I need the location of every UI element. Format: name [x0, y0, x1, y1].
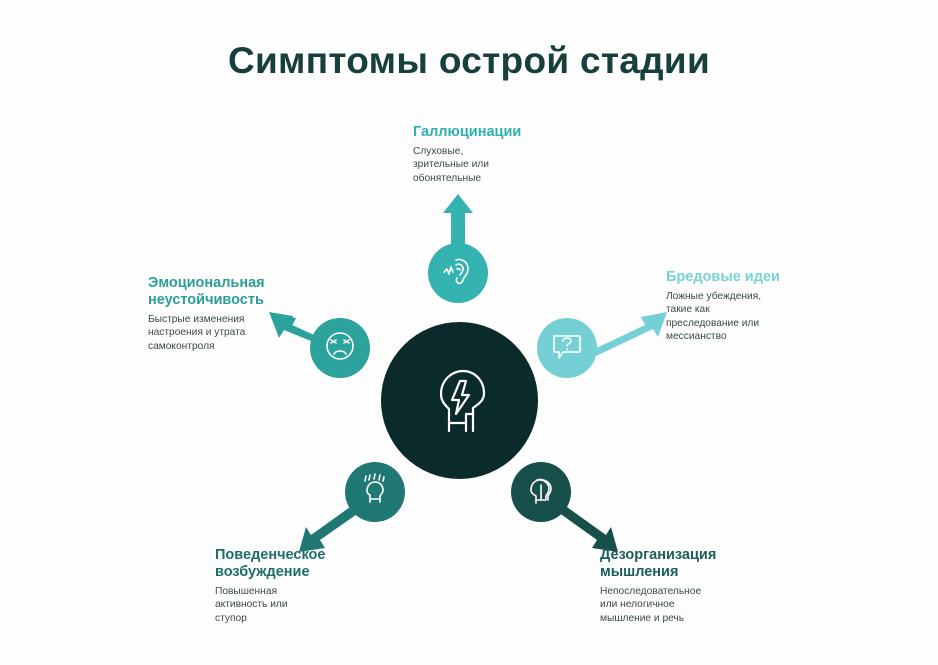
callout-body: Слуховые, зрительные или обонятельные: [413, 145, 603, 185]
ear-sound-icon: [441, 254, 475, 293]
callout-behavioral-agitation: Поведенческое возбуждение Повышенная акт…: [215, 547, 390, 625]
callout-delusions: Бредовые идеи Ложные убеждения, такие ка…: [666, 269, 846, 344]
node-disorganized-thinking[interactable]: [511, 462, 571, 522]
node-delusions[interactable]: [537, 318, 597, 378]
arrow-delusions: [588, 312, 667, 356]
speech-bubble-question-icon: [550, 329, 584, 368]
heading-line: неустойчивость: [148, 292, 308, 309]
body-line: мессианство: [666, 330, 846, 343]
sad-face-icon: [323, 329, 357, 368]
heading-line: Поведенческое: [215, 547, 390, 564]
callout-heading: Эмоциональная неустойчивость: [148, 275, 308, 309]
body-line: обонятельные: [413, 172, 603, 185]
body-line: Быстрые изменения: [148, 313, 308, 326]
body-line: мышление и речь: [600, 612, 785, 625]
two-heads-icon: [524, 473, 558, 512]
page-title: Симптомы острой стадии: [0, 40, 938, 82]
callout-body: Быстрые изменения настроения и утрата са…: [148, 313, 308, 353]
heading-line: Дезорганизация: [600, 547, 785, 564]
body-line: или нелогичное: [600, 598, 785, 611]
heading-line: Эмоциональная: [148, 275, 308, 292]
head-sparks-icon: [358, 473, 392, 512]
callout-heading: Галлюцинации: [413, 124, 603, 141]
node-behavioral-agitation[interactable]: [345, 462, 405, 522]
heading-line: мышления: [600, 564, 785, 581]
callout-emotional-instability: Эмоциональная неустойчивость Быстрые изм…: [148, 275, 308, 353]
node-emotional-instability[interactable]: [310, 318, 370, 378]
body-line: зрительные или: [413, 158, 603, 171]
body-line: Слуховые,: [413, 145, 603, 158]
callout-body: Непоследовательное или нелогичное мышлен…: [600, 585, 785, 625]
callout-body: Ложные убеждения, такие как преследовани…: [666, 290, 846, 344]
body-line: преследование или: [666, 317, 846, 330]
body-line: Ложные убеждения,: [666, 290, 846, 303]
body-line: ступор: [215, 612, 390, 625]
body-line: такие как: [666, 303, 846, 316]
body-line: активность или: [215, 598, 390, 611]
callout-heading: Дезорганизация мышления: [600, 547, 785, 581]
infographic-canvas: Симптомы острой стадии: [0, 0, 938, 665]
callout-body: Повышенная активность или ступор: [215, 585, 390, 625]
callout-heading: Бредовые идеи: [666, 269, 846, 286]
callout-hallucinations: Галлюцинации Слуховые, зрительные или об…: [413, 124, 603, 185]
body-line: самоконтроля: [148, 340, 308, 353]
heading-line: возбуждение: [215, 564, 390, 581]
callout-heading: Поведенческое возбуждение: [215, 547, 390, 581]
body-line: Повышенная: [215, 585, 390, 598]
body-line: настроения и утрата: [148, 326, 308, 339]
body-line: Непоследовательное: [600, 585, 785, 598]
callout-disorganized-thinking: Дезорганизация мышления Непоследовательн…: [600, 547, 785, 625]
node-hallucinations[interactable]: [428, 243, 488, 303]
center-node: [381, 322, 538, 479]
